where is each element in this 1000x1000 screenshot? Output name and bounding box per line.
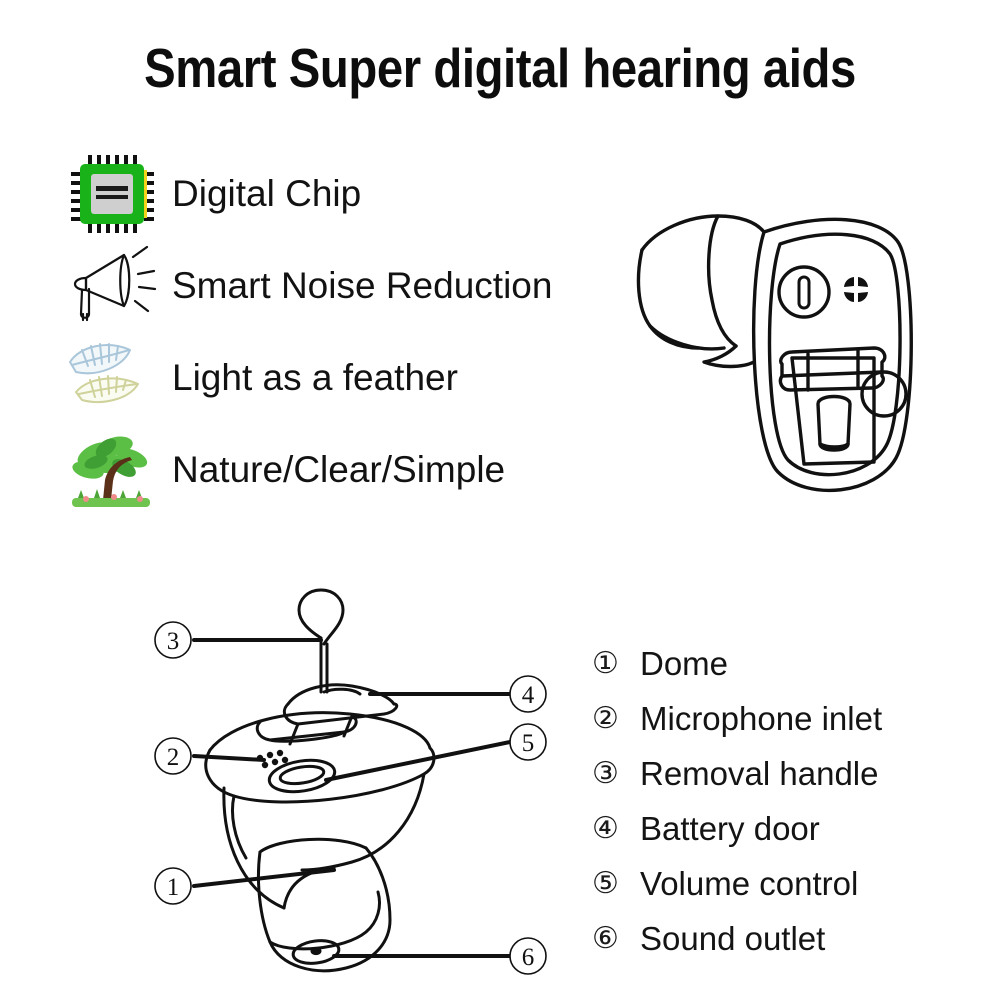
sound-outlet-art bbox=[292, 938, 341, 966]
callout-markers: 3 2 1 4 5 bbox=[155, 622, 546, 974]
page-title: Smart Super digital hearing aids bbox=[70, 36, 930, 100]
legend-item-microphone-inlet: ② Microphone inlet bbox=[592, 691, 982, 746]
legend-item-volume-control: ⑤ Volume control bbox=[592, 856, 982, 911]
dome-tube-left-edge bbox=[638, 250, 698, 348]
svg-text:6: 6 bbox=[522, 944, 535, 971]
labeled-diagram: 3 2 1 4 5 bbox=[138, 552, 558, 988]
legend-label: Removal handle bbox=[640, 756, 878, 792]
hero-product-illustration bbox=[612, 172, 952, 522]
legend-number: ③ bbox=[592, 759, 640, 789]
digital-chip-icon bbox=[64, 148, 160, 240]
legend-number: ② bbox=[592, 704, 640, 734]
legend-label: Volume control bbox=[640, 866, 858, 902]
feature-label: Smart Noise Reduction bbox=[172, 266, 552, 306]
feature-label: Nature/Clear/Simple bbox=[172, 450, 505, 490]
svg-text:1: 1 bbox=[167, 874, 180, 901]
legend-number: ④ bbox=[592, 814, 640, 844]
legend-label: Battery door bbox=[640, 811, 820, 847]
svg-text:5: 5 bbox=[522, 730, 535, 757]
svg-text:3: 3 bbox=[167, 628, 180, 655]
microphone-grille bbox=[844, 277, 868, 302]
feather-icon bbox=[64, 332, 160, 424]
callout-2: 2 bbox=[155, 738, 191, 774]
sound-outlet bbox=[818, 397, 850, 451]
feature-item-nature: Nature/Clear/Simple bbox=[64, 424, 584, 516]
feature-label: Digital Chip bbox=[172, 174, 361, 214]
legend-item-battery-door: ④ Battery door bbox=[592, 801, 982, 856]
feature-item-noise-reduction: Smart Noise Reduction bbox=[64, 240, 584, 332]
callout-3: 3 bbox=[155, 622, 191, 658]
parts-legend: ① Dome ② Microphone inlet ③ Removal hand… bbox=[592, 636, 982, 966]
legend-number: ⑤ bbox=[592, 869, 640, 899]
shell-art bbox=[224, 774, 424, 908]
megaphone-noise-reduction-icon bbox=[64, 240, 160, 332]
legend-label: Microphone inlet bbox=[640, 701, 882, 737]
legend-item-sound-outlet: ⑥ Sound outlet bbox=[592, 911, 982, 966]
feature-item-light-feather: Light as a feather bbox=[64, 332, 584, 424]
feature-label: Light as a feather bbox=[172, 358, 458, 398]
infographic-page: Smart Super digital hearing aids bbox=[0, 0, 1000, 1000]
callout-1: 1 bbox=[155, 868, 191, 904]
feature-list: Digital Chip Smart Noise Reduction bbox=[64, 148, 584, 516]
legend-item-removal-handle: ③ Removal handle bbox=[592, 746, 982, 801]
callout-5: 5 bbox=[510, 724, 546, 760]
legend-item-dome: ① Dome bbox=[592, 636, 982, 691]
feature-item-digital-chip: Digital Chip bbox=[64, 148, 584, 240]
legend-label: Dome bbox=[640, 646, 728, 682]
legend-number: ① bbox=[592, 649, 640, 679]
legend-label: Sound outlet bbox=[640, 921, 825, 957]
callout-6: 6 bbox=[510, 938, 546, 974]
legend-number: ⑥ bbox=[592, 924, 640, 954]
svg-text:4: 4 bbox=[522, 682, 535, 709]
tree-nature-icon bbox=[64, 424, 160, 516]
callout-4: 4 bbox=[510, 676, 546, 712]
svg-text:2: 2 bbox=[167, 744, 180, 771]
